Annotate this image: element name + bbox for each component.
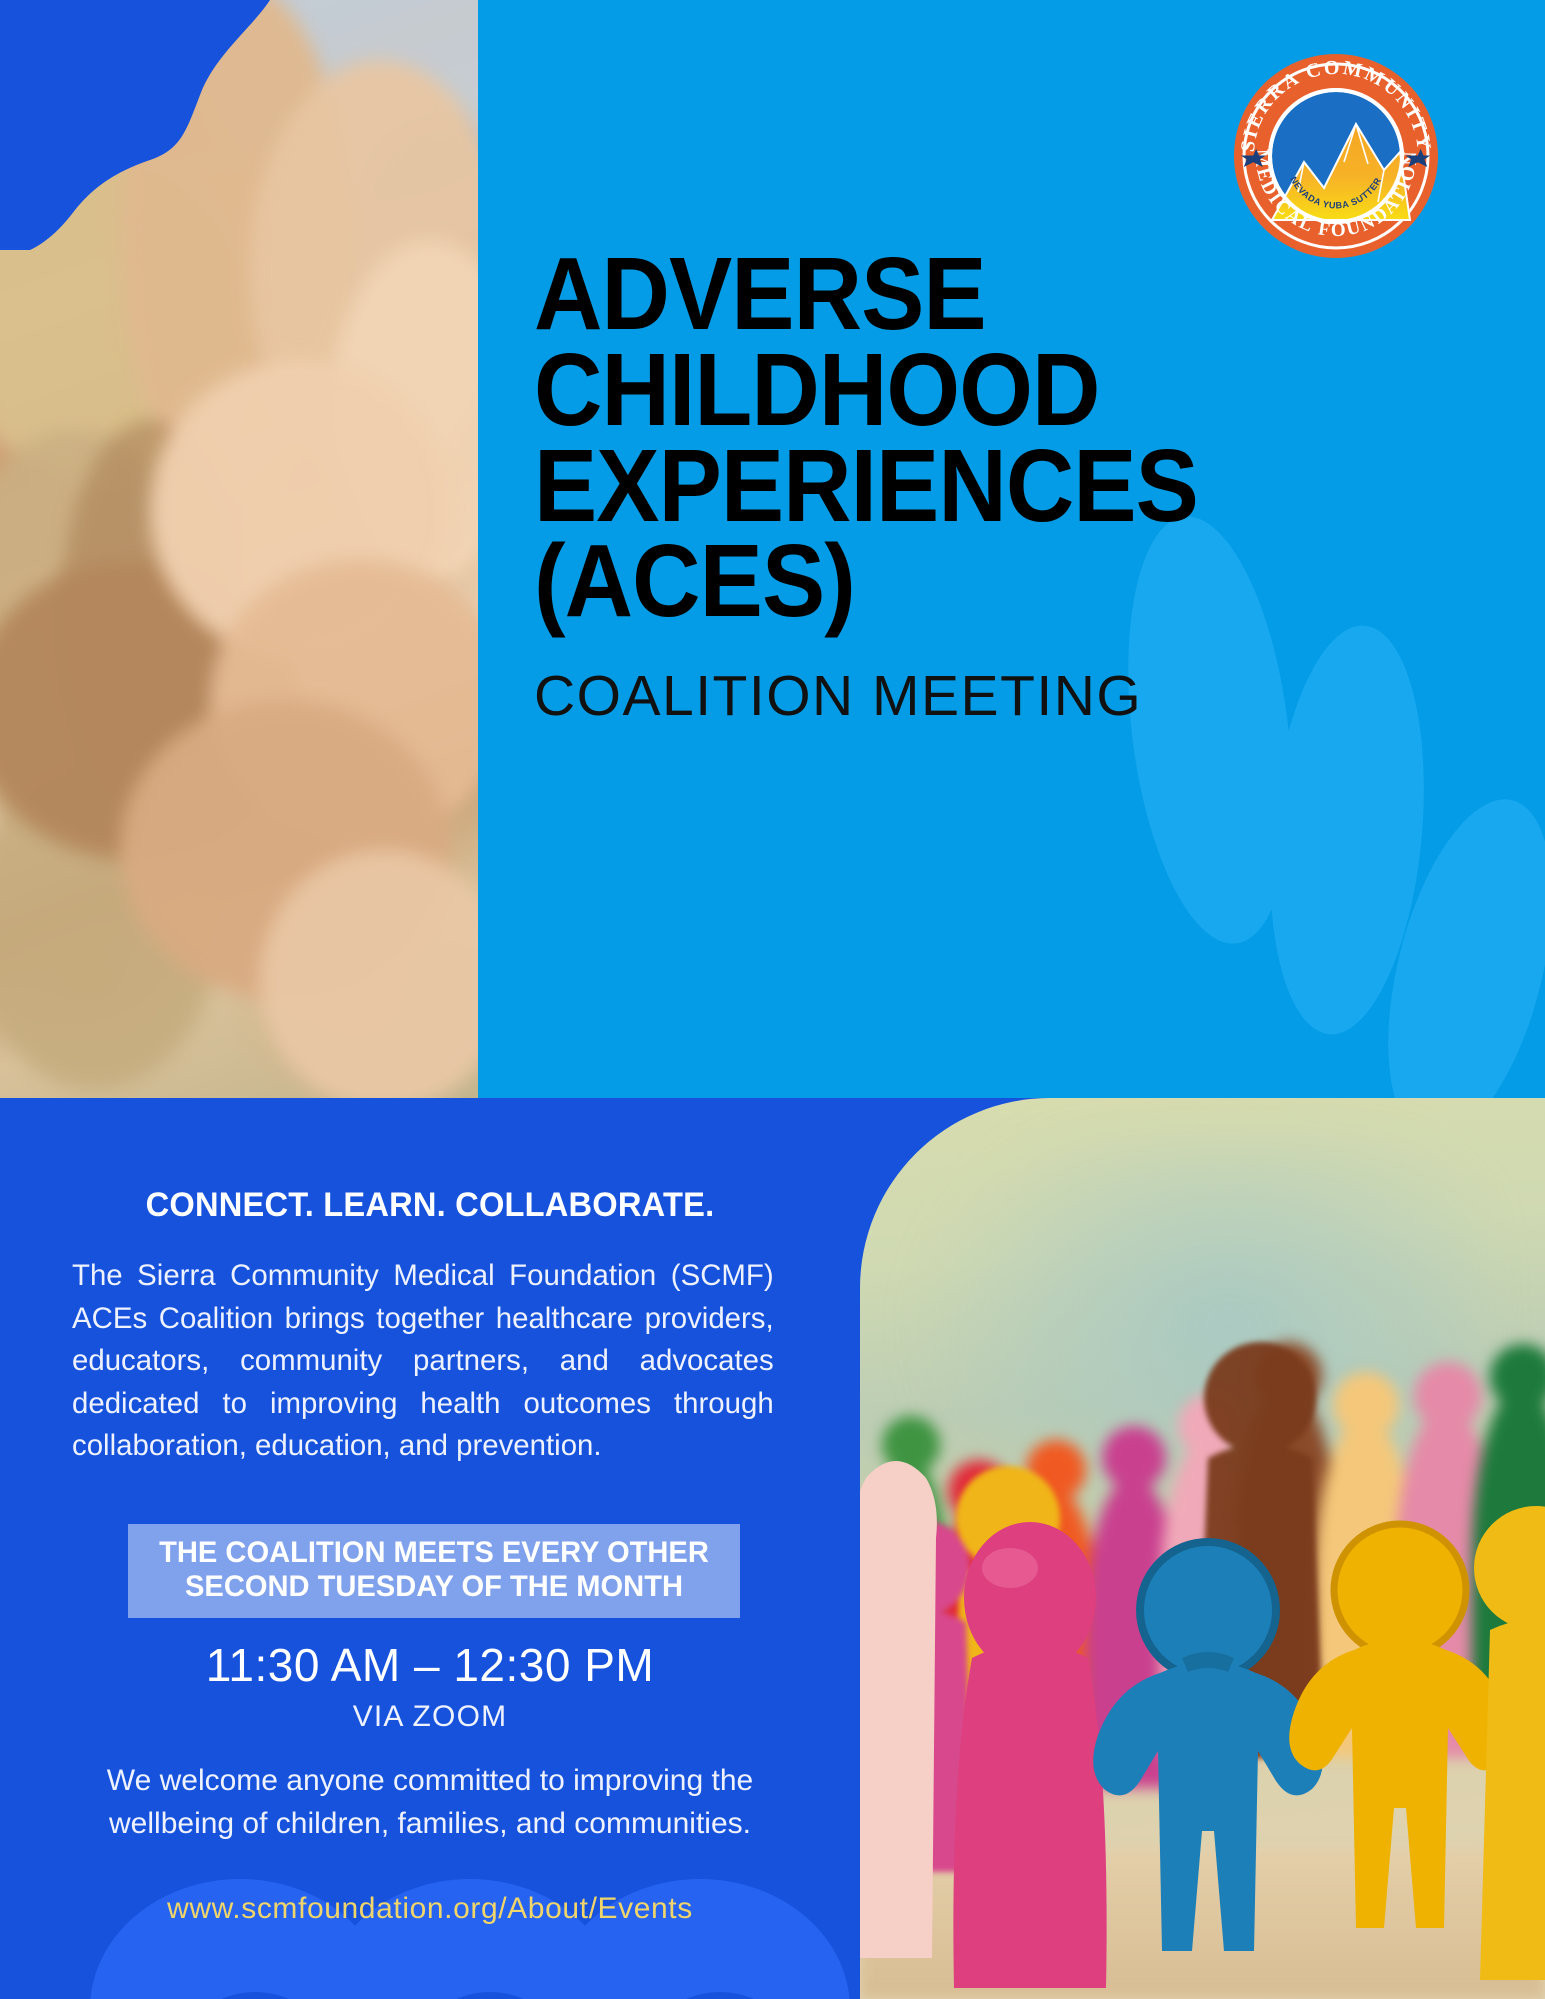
- title-line-3: EXPERIENCES: [534, 438, 1215, 534]
- scmf-logo: SIERRA COMMUNITY MEDICAL FOUNDATION PLAC…: [1232, 52, 1440, 260]
- tagline: CONNECT. LEARN. COLLABORATE.: [86, 1186, 773, 1225]
- peg-people-foreground: [860, 1098, 1545, 1999]
- meeting-schedule-banner: THE COALITION MEETS EVERY OTHER SECOND T…: [128, 1524, 740, 1618]
- blue-peg-figure: [1093, 1542, 1323, 1951]
- aces-coalition-flyer: SIERRA COMMUNITY MEDICAL FOUNDATION PLAC…: [0, 0, 1545, 1999]
- meeting-platform: VIA ZOOM: [72, 1700, 788, 1734]
- meeting-time: 11:30 AM – 12:30 PM: [72, 1638, 788, 1692]
- colorful-wooden-peg-people-photo: [860, 1098, 1545, 1999]
- meeting-schedule-line-1: THE COALITION MEETS EVERY OTHER: [147, 1536, 721, 1570]
- corner-swoosh-decoration: [0, 0, 300, 250]
- body-text-content: CONNECT. LEARN. COLLABORATE. The Sierra …: [0, 1098, 860, 1926]
- pink-peg-figure: [953, 1522, 1106, 1988]
- welcome-paragraph: We welcome anyone committed to improving…: [72, 1760, 788, 1845]
- title-line-4: (ACES): [534, 533, 1215, 629]
- meeting-schedule-line-2: SECOND TUESDAY OF THE MONTH: [147, 1570, 721, 1604]
- flyer-body-section: CONNECT. LEARN. COLLABORATE. The Sierra …: [0, 1098, 1545, 1999]
- title-line-2: CHILDHOOD: [534, 342, 1215, 438]
- title-block: ADVERSE CHILDHOOD EXPERIENCES (ACES) COA…: [534, 246, 1274, 729]
- events-url-link[interactable]: www.scmfoundation.org/About/Events: [72, 1892, 788, 1926]
- flyer-header-section: SIERRA COMMUNITY MEDICAL FOUNDATION PLAC…: [0, 0, 1545, 1098]
- title-line-1: ADVERSE: [534, 246, 1215, 342]
- intro-paragraph: The Sierra Community Medical Foundation …: [72, 1255, 774, 1468]
- subtitle: COALITION MEETING: [534, 663, 1274, 729]
